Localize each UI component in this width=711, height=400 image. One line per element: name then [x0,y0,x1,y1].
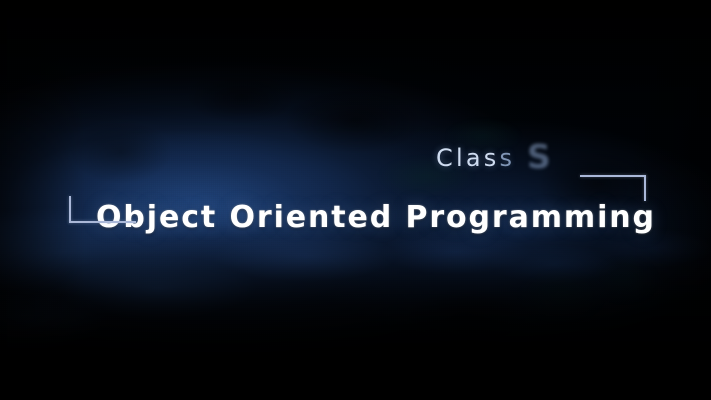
bracket-bottom-left-horizontal-rule [69,221,136,223]
title-text-group: Class S Object Oriented Programming [0,0,711,400]
page-title: Object Oriented Programming [96,200,656,235]
bracket-bottom-left-vertical-rule [69,196,71,223]
kicker-dim-text: s [499,144,515,172]
title-card-slide: Class S Object Oriented Programming [0,0,711,400]
bracket-top-right-horizontal-rule [580,175,646,177]
bracket-top-right-vertical-rule [644,175,646,201]
kicker-ghost-glyph: S [527,140,551,173]
kicker-lit-text: Clas [436,144,499,172]
kicker-label: Class [436,146,515,170]
